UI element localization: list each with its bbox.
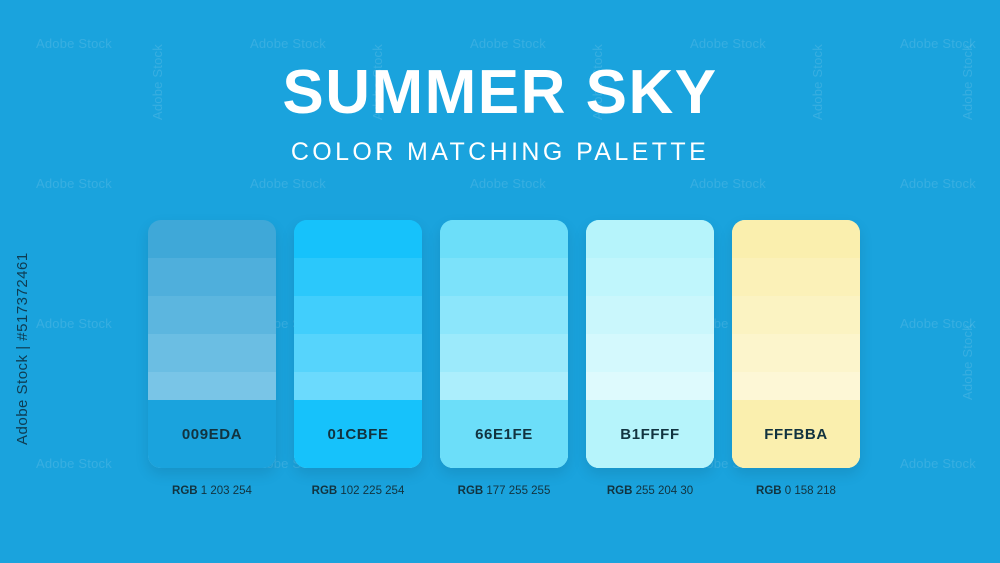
shade-band <box>732 334 860 372</box>
shade-band <box>440 296 568 334</box>
color-swatch[interactable]: 009EDARGB 1 203 254 <box>148 220 276 468</box>
hex-code-label: 66E1FE <box>440 400 568 468</box>
watermark-text: Adobe Stock <box>36 176 112 191</box>
color-swatch[interactable]: 66E1FERGB 177 255 255 <box>440 220 568 468</box>
rgb-prefix: RGB <box>756 485 785 497</box>
watermark-text: Adobe Stock <box>250 176 326 191</box>
shade-band <box>148 334 276 372</box>
watermark-text: Adobe Stock <box>36 36 112 51</box>
rgb-numbers: 255 204 30 <box>636 485 694 497</box>
watermark-text: Adobe Stock <box>250 36 326 51</box>
swatch-card[interactable]: FFFBBA <box>732 220 860 468</box>
shade-band <box>586 296 714 334</box>
watermark-text: Adobe Stock <box>900 36 976 51</box>
watermark-text: Adobe Stock <box>36 456 112 471</box>
shade-band <box>440 258 568 296</box>
watermark-text: Adobe Stock <box>36 316 112 331</box>
rgb-numbers: 102 225 254 <box>340 485 404 497</box>
shade-band <box>586 258 714 296</box>
hex-code-label: 009EDA <box>148 400 276 468</box>
page-subtitle: COLOR MATCHING PALETTE <box>0 138 1000 167</box>
swatch-card[interactable]: 009EDA <box>148 220 276 468</box>
watermark-text: Adobe Stock <box>900 176 976 191</box>
rgb-prefix: RGB <box>458 485 487 497</box>
page-title: SUMMER SKY <box>0 62 1000 124</box>
shade-band <box>148 220 276 258</box>
shade-band <box>294 334 422 372</box>
rgb-value-label: RGB 255 204 30 <box>586 485 714 497</box>
hex-code-label: 01CBFE <box>294 400 422 468</box>
palette-poster: Adobe StockAdobe StockAdobe StockAdobe S… <box>0 0 1000 563</box>
watermark-stock-id: Adobe Stock | #517372461 <box>14 252 31 445</box>
color-swatch[interactable]: 01CBFERGB 102 225 254 <box>294 220 422 468</box>
swatch-card[interactable]: B1FFFF <box>586 220 714 468</box>
rgb-numbers: 1 203 254 <box>201 485 252 497</box>
watermark-text: Adobe Stock <box>900 316 976 331</box>
shade-band <box>586 220 714 258</box>
watermark-text: Adobe Stock <box>470 176 546 191</box>
color-palette: 009EDARGB 1 203 25401CBFERGB 102 225 254… <box>148 220 854 510</box>
hex-code-label: B1FFFF <box>586 400 714 468</box>
shade-band <box>732 258 860 296</box>
rgb-value-label: RGB 177 255 255 <box>440 485 568 497</box>
shade-band <box>294 258 422 296</box>
rgb-prefix: RGB <box>312 485 341 497</box>
rgb-prefix: RGB <box>172 485 201 497</box>
shade-band <box>732 296 860 334</box>
watermark-text: Adobe Stock <box>470 36 546 51</box>
watermark-text: Adobe Stock <box>900 456 976 471</box>
hex-code-label: FFFBBA <box>732 400 860 468</box>
shade-band <box>294 296 422 334</box>
rgb-numbers: 0 158 218 <box>785 485 836 497</box>
color-swatch[interactable]: FFFBBARGB 0 158 218 <box>732 220 860 468</box>
shade-band <box>148 296 276 334</box>
rgb-prefix: RGB <box>607 485 636 497</box>
watermark-text: Adobe Stock <box>690 176 766 191</box>
shade-band <box>440 220 568 258</box>
swatch-card[interactable]: 66E1FE <box>440 220 568 468</box>
shade-band <box>732 220 860 258</box>
swatch-card[interactable]: 01CBFE <box>294 220 422 468</box>
color-swatch[interactable]: B1FFFFRGB 255 204 30 <box>586 220 714 468</box>
shade-band <box>148 258 276 296</box>
shade-band <box>586 334 714 372</box>
rgb-value-label: RGB 102 225 254 <box>294 485 422 497</box>
rgb-value-label: RGB 0 158 218 <box>732 485 860 497</box>
watermark-text: Adobe Stock <box>960 324 975 400</box>
rgb-value-label: RGB 1 203 254 <box>148 485 276 497</box>
shade-band <box>294 220 422 258</box>
watermark-text: Adobe Stock <box>690 36 766 51</box>
rgb-numbers: 177 255 255 <box>486 485 550 497</box>
shade-band <box>440 334 568 372</box>
